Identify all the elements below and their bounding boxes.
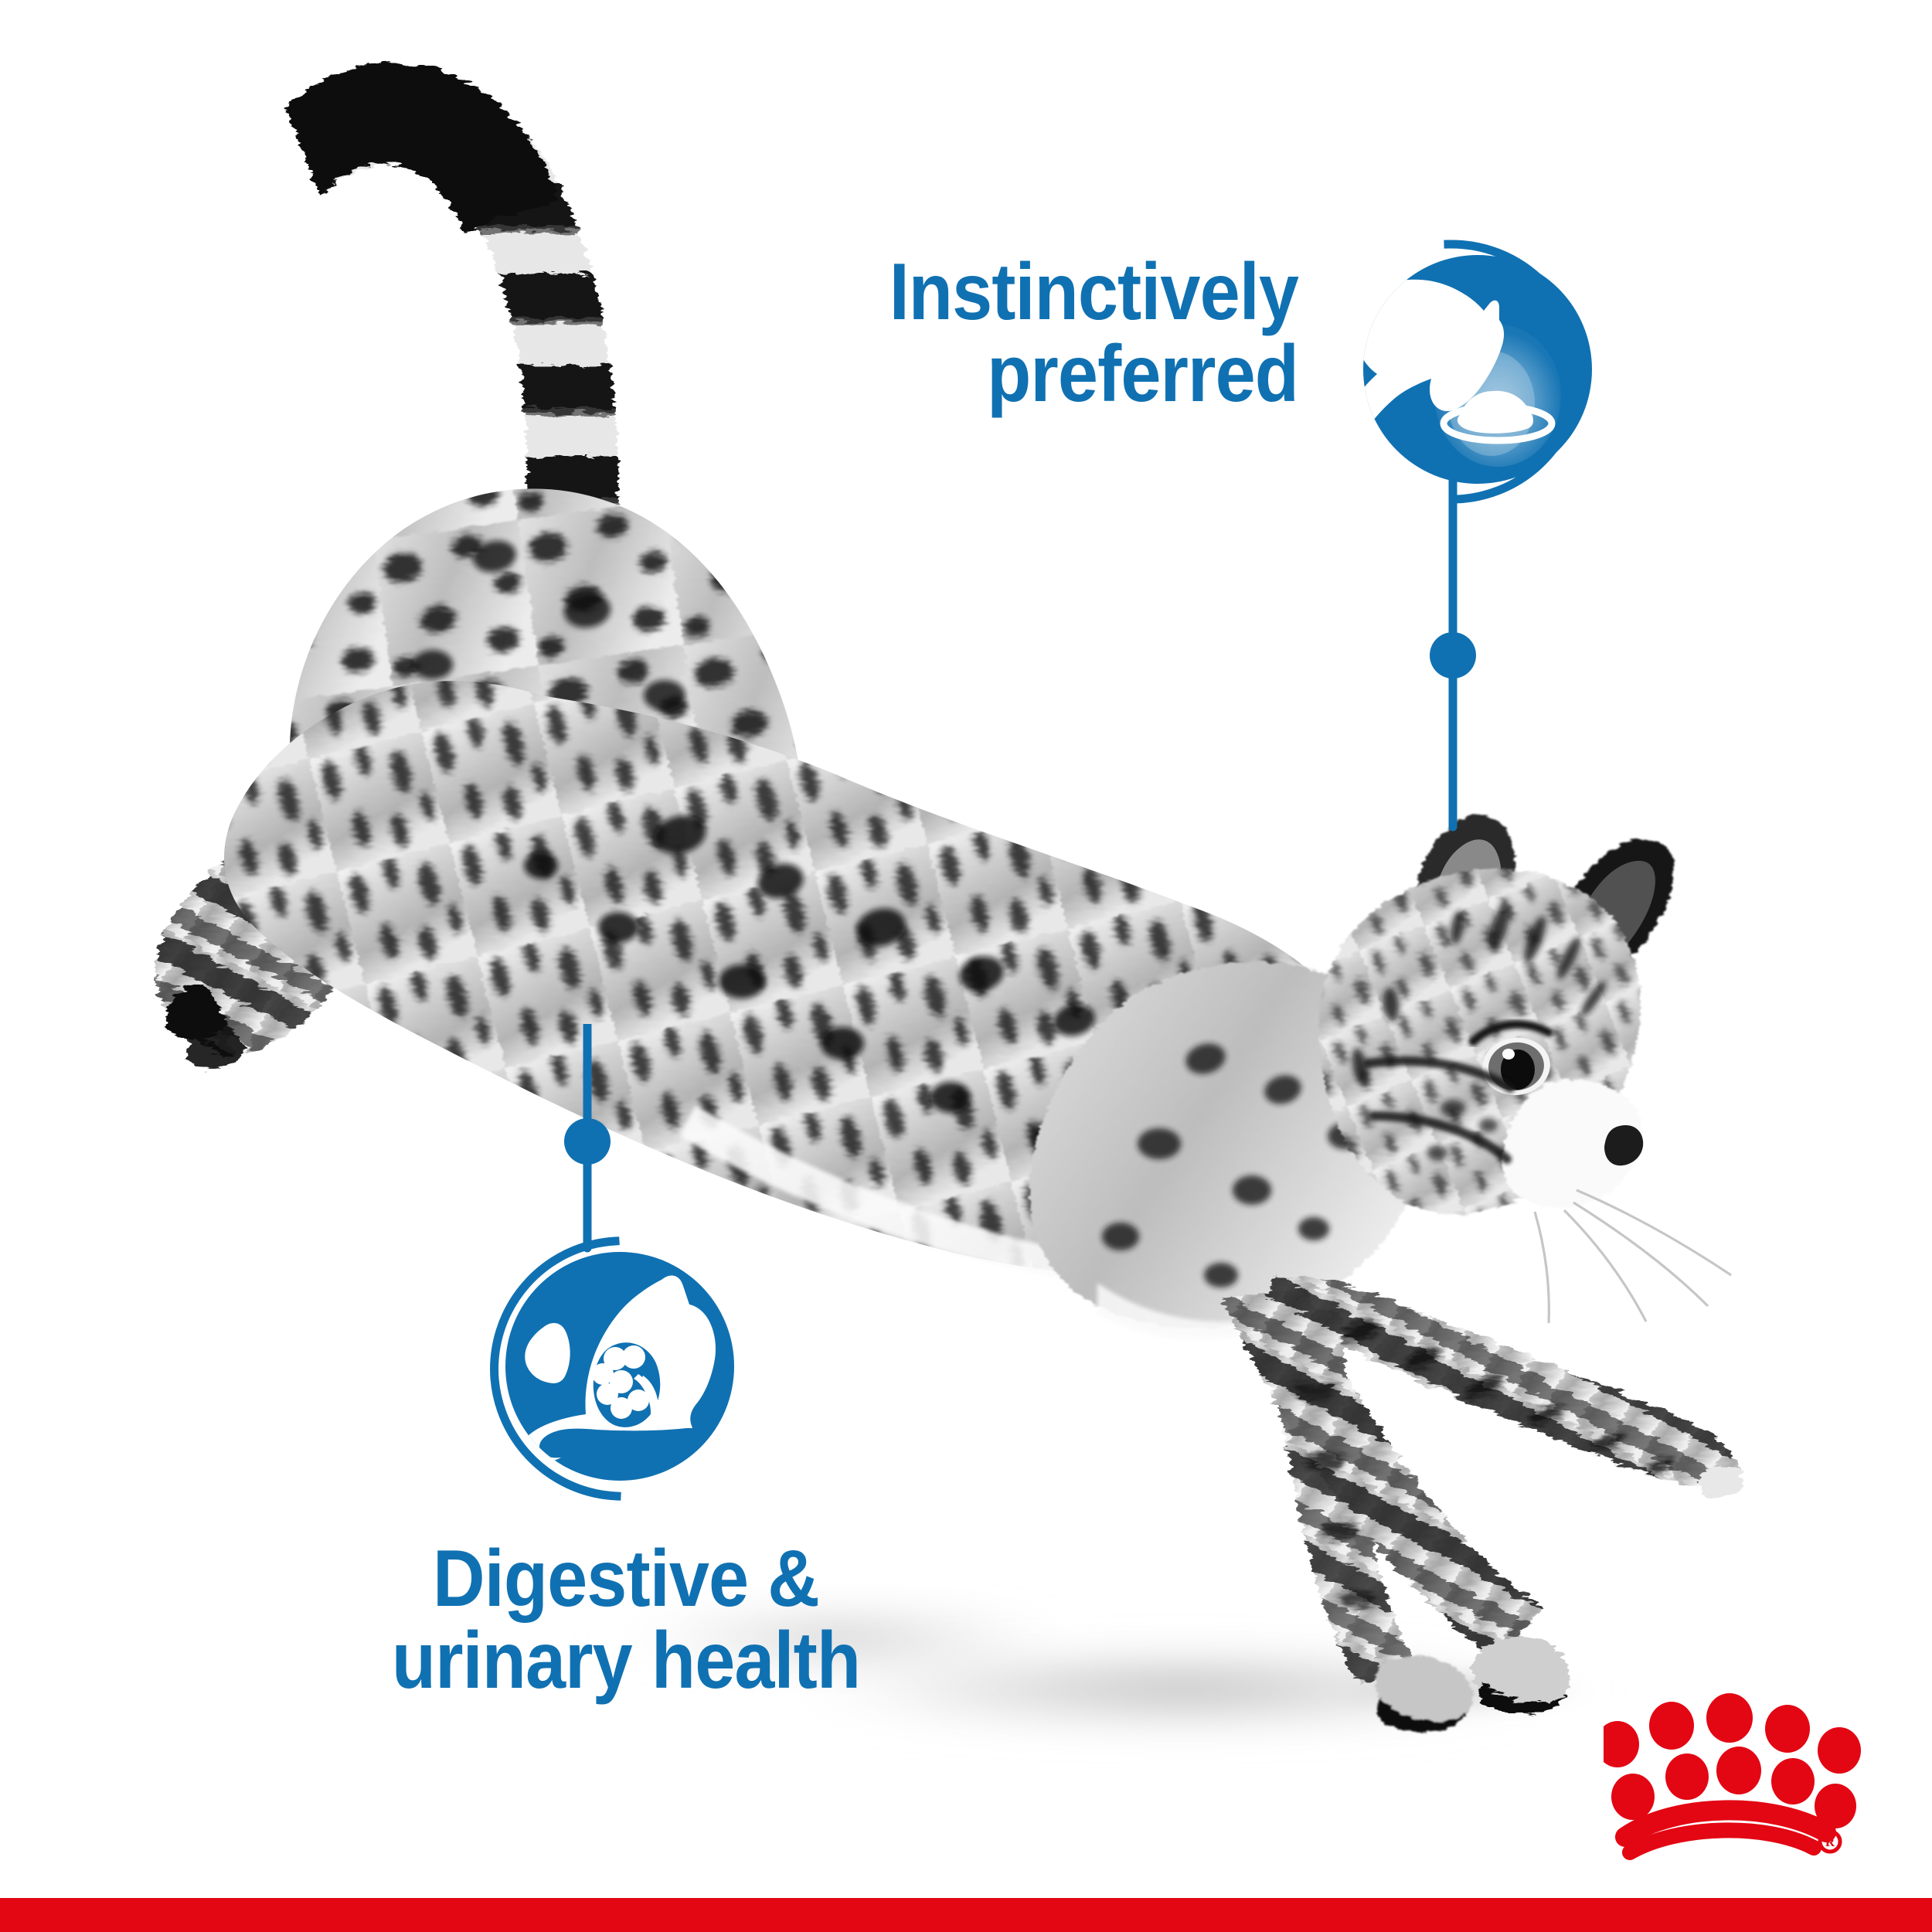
footer-red-bar	[0, 1898, 1932, 1932]
crown-arcs	[1625, 1810, 1826, 1852]
connector-line-top	[1406, 464, 1499, 850]
benefit-label-digestive-urinary-health: Digestive & urinary health	[362, 1538, 890, 1702]
packshot-canvas: Instinctively preferred	[0, 0, 1932, 1932]
cat-head	[1318, 815, 1731, 1323]
svg-text:R: R	[1825, 1835, 1835, 1849]
cat-with-kidney-icon	[464, 1215, 757, 1509]
benefit-callout-instinctively-preferred: Instinctively preferred	[804, 251, 1298, 415]
benefit-label-instinctively-preferred: Instinctively preferred	[853, 251, 1298, 415]
royal-canin-crown-logo: R	[1604, 1689, 1874, 1882]
cat-whiskers	[1535, 1190, 1731, 1323]
benefit-callout-digestive-urinary-health: Digestive & urinary health	[332, 1538, 920, 1702]
